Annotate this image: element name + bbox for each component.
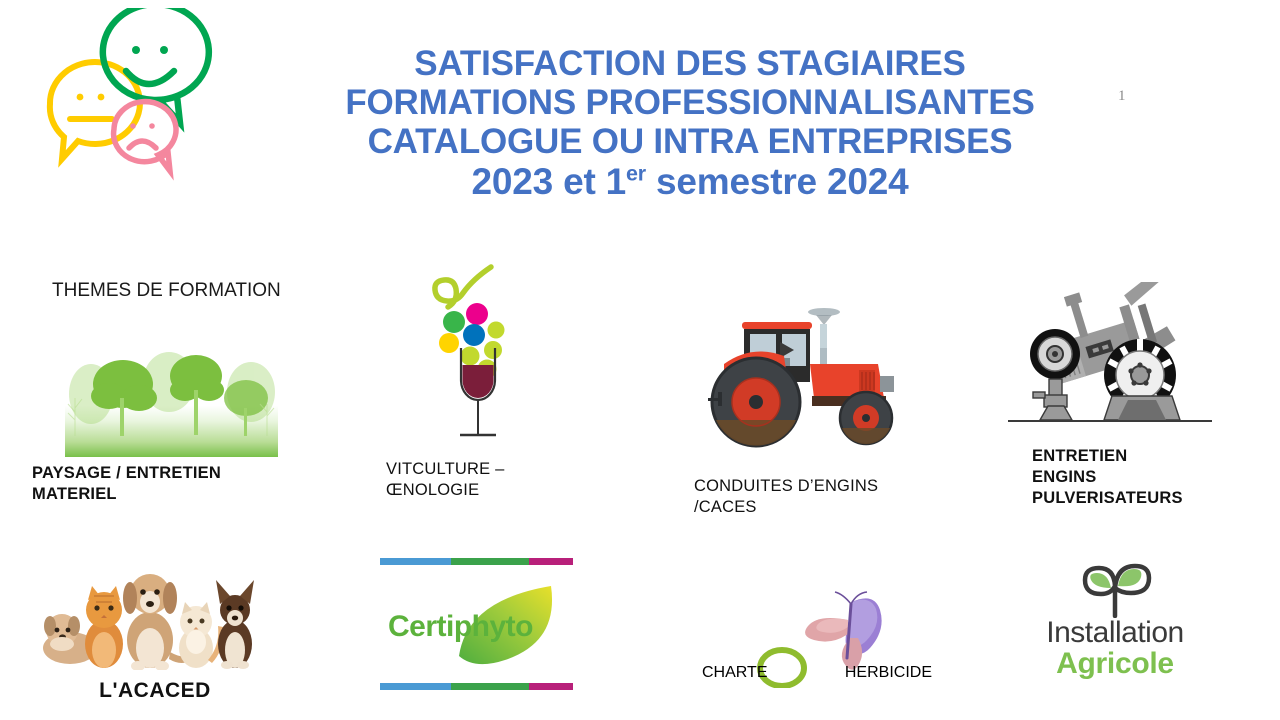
neutral-smiley-icon xyxy=(50,62,140,159)
theme-label-paysage-line-1: PAYSAGE / ENTRETIEN xyxy=(32,463,330,484)
slide-canvas: 1 SATISFACTION DES STAGIAIRES FORMATIONS… xyxy=(0,0,1280,720)
theme-card-installation-agricole[interactable]: Installation Agricole xyxy=(1020,562,1220,710)
red-tractor-icon xyxy=(694,300,954,460)
jack-stand xyxy=(1033,379,1072,420)
theme-label-pulverisateurs: ENTRETIEN ENGINS PULVERISATEURS xyxy=(1032,446,1240,509)
satisfaction-smileys-logo xyxy=(28,8,218,188)
theme-label-caces-line-1: CONDUITES D’ENGINS xyxy=(694,476,954,497)
theme-card-caces[interactable]: CONDUITES D’ENGINS /CACES xyxy=(694,300,954,518)
theme-label-pulverisateurs-line-2: ENGINS xyxy=(1032,467,1240,488)
theme-label-pulverisateurs-line-1: ENTRETIEN xyxy=(1032,446,1240,467)
landscape-maintenance-image xyxy=(65,350,278,457)
theme-card-paysage[interactable]: PAYSAGE / ENTRETIEN MATERIEL xyxy=(30,350,330,505)
theme-card-viticulture[interactable]: VITCULTURE – ŒNOLOGIE xyxy=(386,262,586,501)
chihuahua-icon xyxy=(216,580,254,669)
theme-label-caces: CONDUITES D’ENGINS /CACES xyxy=(694,476,954,518)
grape-blue xyxy=(463,324,485,346)
page-number: 1 xyxy=(1118,88,1126,105)
certiphyto-bottom-bar xyxy=(380,683,573,690)
title-line-1: SATISFACTION DES STAGIAIRES xyxy=(290,46,1090,81)
theme-label-acaced: L'ACACED xyxy=(30,679,280,703)
orange-cat-icon xyxy=(85,586,123,668)
installation-wordmark-line-1: Installation xyxy=(1020,618,1210,648)
theme-card-certiphyto[interactable]: Certiphyto xyxy=(380,558,580,690)
wine-glass-grapes-icon xyxy=(386,262,586,457)
persian-cat-icon xyxy=(179,602,223,668)
theme-label-paysage: PAYSAGE / ENTRETIEN MATERIEL xyxy=(32,463,330,505)
bar-segment-green-2 xyxy=(451,683,528,690)
theme-label-paysage-line-2: MATERIEL xyxy=(32,484,330,505)
page-title: SATISFACTION DES STAGIAIRES FORMATIONS P… xyxy=(290,46,1090,200)
title-line-4-prefix: 2023 et 1 xyxy=(471,161,626,202)
themes-heading-line-2: FORMATION xyxy=(168,280,281,301)
theme-card-charte-herbicide[interactable]: CHARTE HERBICIDE xyxy=(690,588,940,688)
charte-label-right: HERBICIDE xyxy=(845,664,932,682)
title-line-4-suffix: semestre 2024 xyxy=(646,161,909,202)
themes-heading: THEMES DE FORMATION xyxy=(52,278,281,304)
theme-label-viticulture-line-2: ŒNOLOGIE xyxy=(386,480,586,501)
theme-label-pulverisateurs-line-3: PULVERISATEURS xyxy=(1032,488,1240,509)
certiphyto-leaf-logo: Certiphyto xyxy=(380,558,573,690)
theme-label-viticulture: VITCULTURE – ŒNOLOGIE xyxy=(386,459,586,501)
grape-green xyxy=(443,311,465,333)
front-wheel xyxy=(1030,329,1080,379)
title-line-4-superscript: er xyxy=(626,162,646,186)
certiphyto-wordmark: Certiphyto xyxy=(388,610,533,644)
grape-lime-3 xyxy=(461,347,480,366)
sprout-seedling-icon xyxy=(1073,562,1157,618)
theme-card-acaced[interactable]: L'ACACED xyxy=(30,552,280,703)
title-line-3: CATALOGUE OU INTRA ENTREPRISES xyxy=(290,124,1090,159)
installation-wordmark-line-2: Agricole xyxy=(1020,648,1210,680)
grape-lime-1 xyxy=(488,322,505,339)
bar-segment-magenta-2 xyxy=(529,683,573,690)
theme-label-viticulture-line-1: VITCULTURE – xyxy=(386,459,586,480)
title-line-2: FORMATIONS PROFESSIONNALISANTES xyxy=(290,85,1090,120)
grape-magenta xyxy=(466,303,488,325)
bar-segment-blue-2 xyxy=(380,683,451,690)
title-line-4: 2023 et 1er semestre 2024 xyxy=(290,163,1090,200)
support-block xyxy=(1104,396,1180,420)
themes-heading-line-1: THEMES DE xyxy=(52,280,163,301)
theme-label-acaced-line-1: L'ACACED xyxy=(99,679,211,702)
pets-dogs-cats-image xyxy=(30,552,280,675)
theme-label-caces-line-2: /CACES xyxy=(694,497,954,518)
charte-label-left: CHARTE xyxy=(702,664,768,682)
grape-yellow xyxy=(439,333,459,353)
grape-lime-2 xyxy=(484,341,502,359)
tractor-on-jackstands-icon xyxy=(1000,282,1240,440)
theme-card-pulverisateurs[interactable]: ENTRETIEN ENGINS PULVERISATEURS xyxy=(1000,282,1240,509)
